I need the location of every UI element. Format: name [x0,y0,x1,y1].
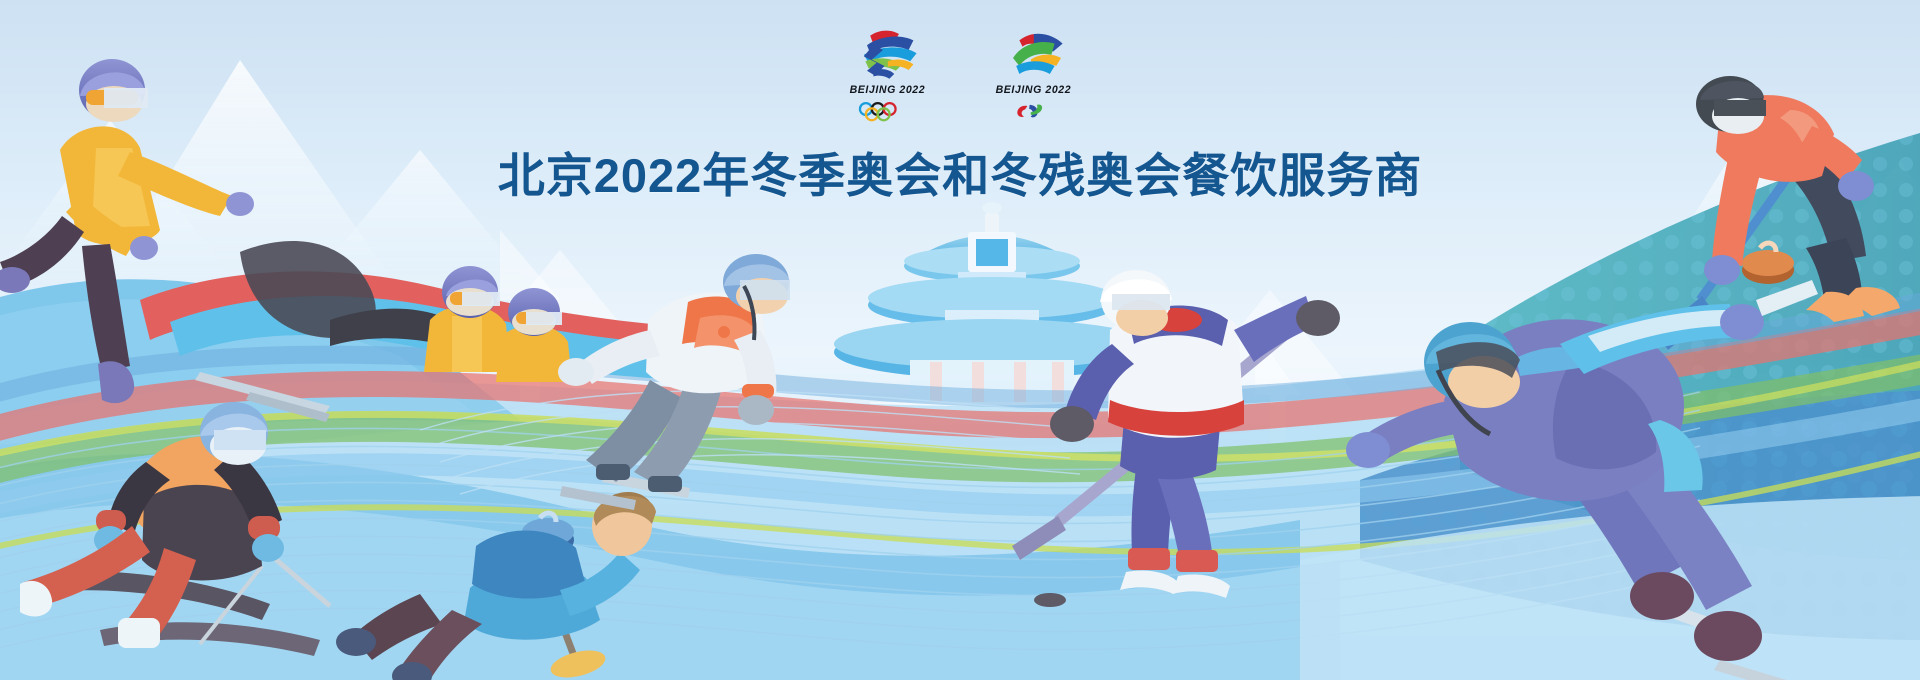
speed-skater [1346,280,1818,680]
olympic-banner: BEIJING 2022 [0,0,1920,680]
ice-hockey-player [1012,270,1340,607]
olympic-rings-icon [854,99,920,123]
emblem-row: BEIJING 2022 [841,26,1079,123]
beijing-2022-paralympic-emblem[interactable]: BEIJING 2022 [987,26,1079,123]
olympic-wordmark: BEIJING 2022 [849,84,925,96]
paralympic-wordmark: BEIJING 2022 [995,84,1071,96]
page-title: 北京2022年冬季奥会和冬残奥会餐饮服务商 [498,137,1423,206]
bobsleigh-push-team [0,59,760,422]
short-track-speed-skater [558,254,790,510]
curling-deliverer [336,492,656,680]
beijing-2022-olympic-emblem[interactable]: BEIJING 2022 [841,26,933,123]
alpine-skier [20,402,330,656]
olympic-emblem-icon [843,26,931,82]
agitos-icon [1005,99,1061,123]
paralympic-emblem-icon [989,26,1077,82]
